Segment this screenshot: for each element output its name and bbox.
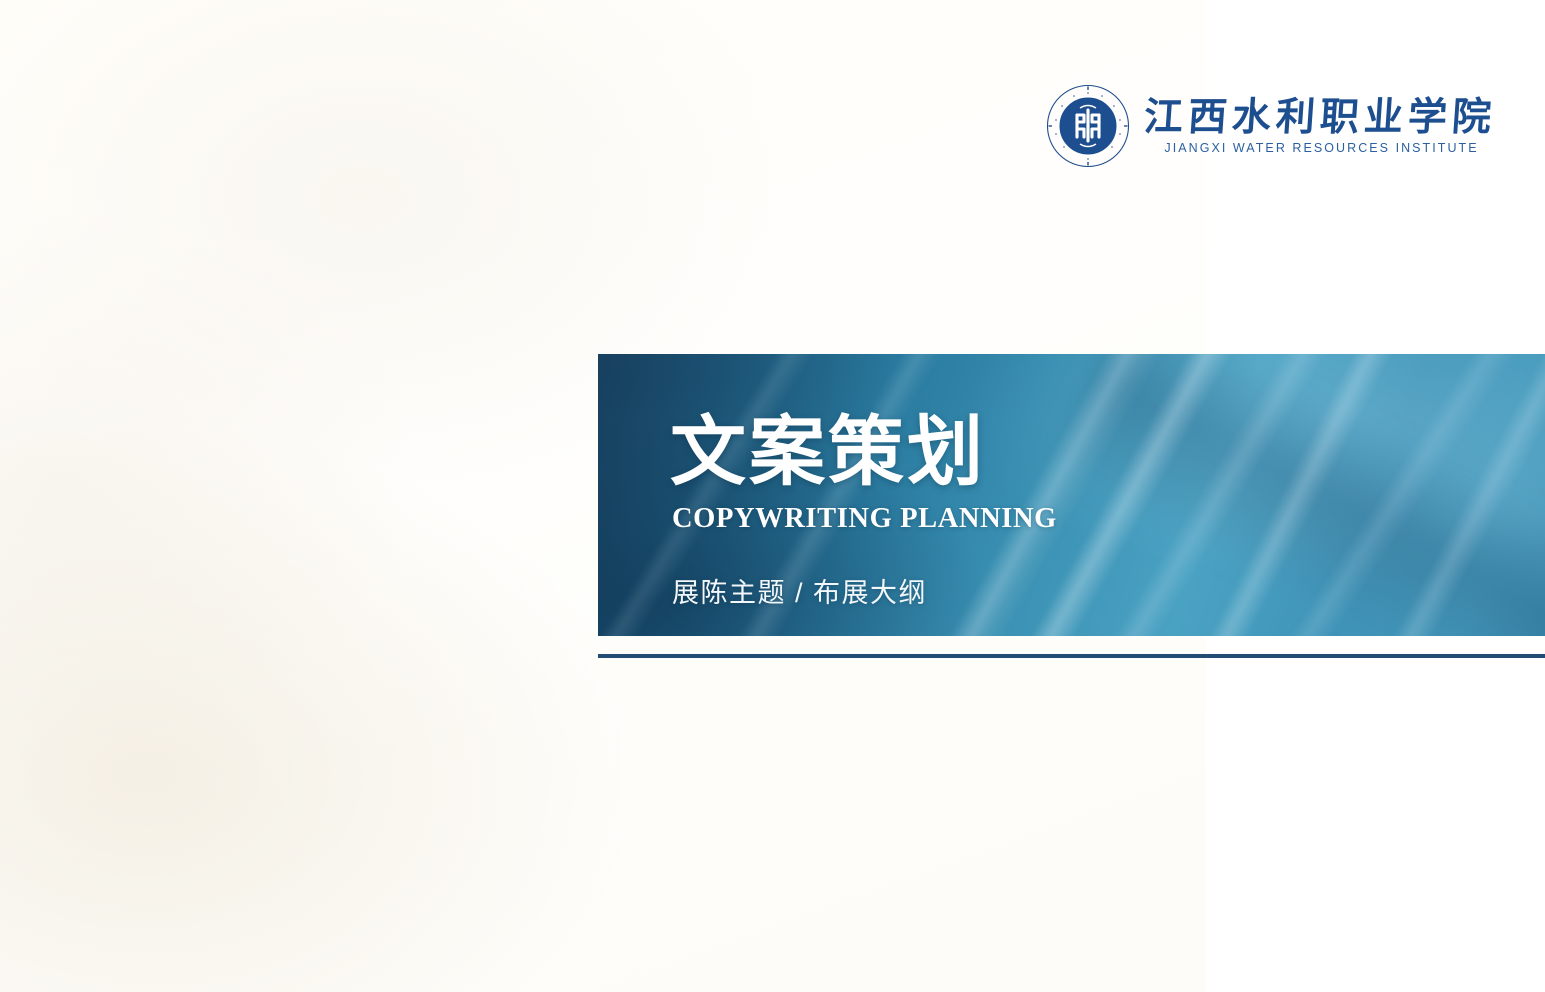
logo-text-block: 江西水利职业学院 JIANGXI WATER RESOURCES INSTITU… bbox=[1144, 97, 1496, 155]
banner-dark-wave bbox=[1045, 354, 1545, 636]
institution-logo: 江西水利职业学院 JIANGXI WATER RESOURCES INSTITU… bbox=[1046, 84, 1496, 168]
gold-vein bbox=[0, 0, 522, 562]
gold-vein bbox=[0, 0, 651, 223]
page-subtitle: 展陈主题 / 布展大纲 bbox=[672, 580, 927, 607]
institution-name-en: JIANGXI WATER RESOURCES INSTITUTE bbox=[1161, 141, 1478, 155]
gold-vein bbox=[51, 620, 1089, 960]
title-banner: 文案策划 COPYWRITING PLANNING 展陈主题 / 布展大纲 bbox=[598, 354, 1545, 636]
gold-vein bbox=[0, 776, 850, 992]
institution-name-cn: 江西水利职业学院 bbox=[1143, 97, 1498, 139]
page-title: 文案策划 bbox=[670, 415, 986, 491]
banner-divider bbox=[598, 654, 1545, 658]
university-seal-icon bbox=[1046, 84, 1130, 168]
page-title-english: COPYWRITING PLANNING bbox=[672, 505, 1057, 534]
presentation-slide: 江西水利职业学院 JIANGXI WATER RESOURCES INSTITU… bbox=[0, 0, 1545, 992]
